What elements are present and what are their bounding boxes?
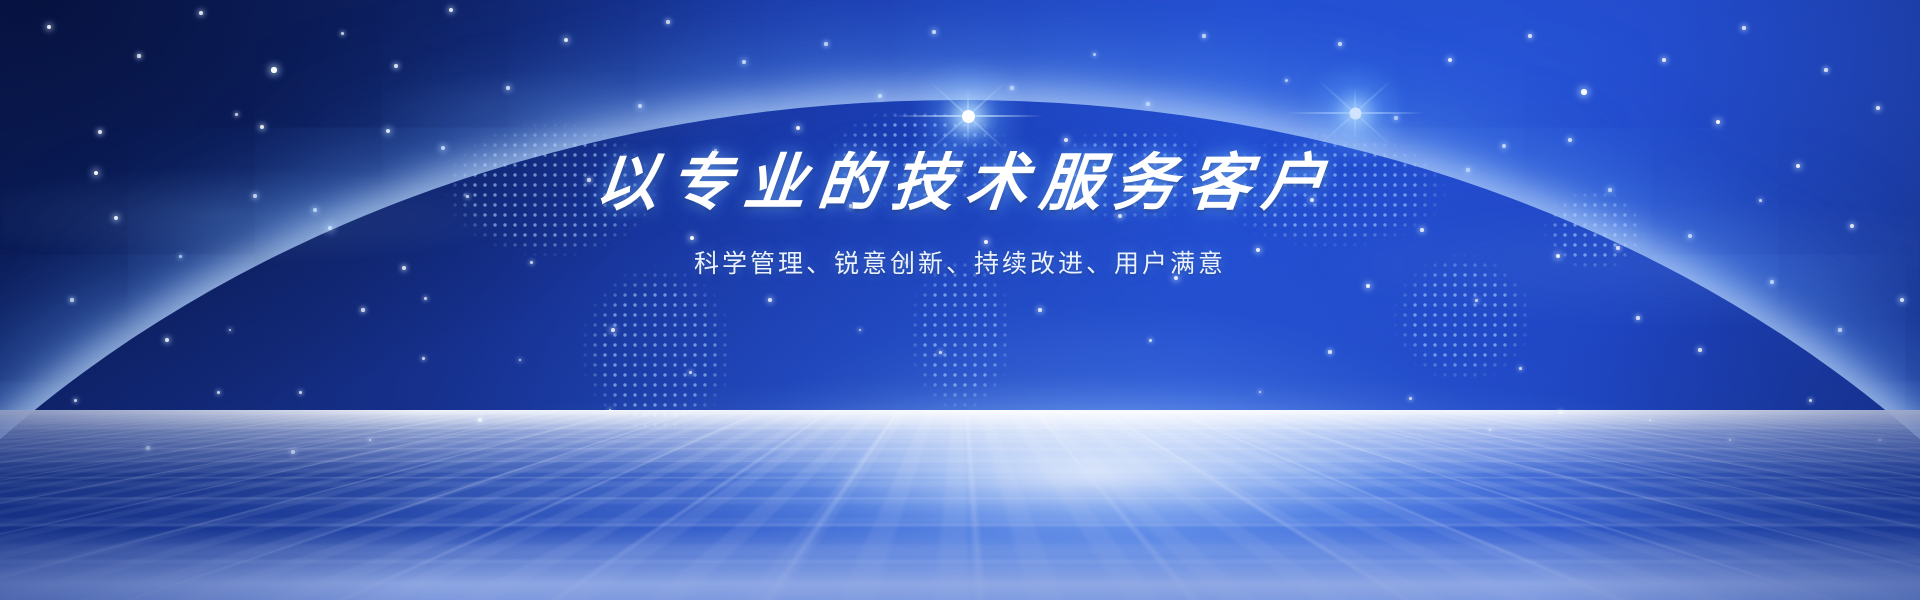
star	[564, 38, 568, 42]
star	[235, 113, 238, 116]
star	[1338, 42, 1341, 45]
star	[932, 30, 936, 34]
star	[70, 298, 73, 301]
banner-subheadline: 科学管理、锐意创新、持续改进、用户满意	[0, 244, 1920, 280]
banner-text: 以专业的技术服务客户 科学管理、锐意创新、持续改进、用户满意	[0, 150, 1920, 280]
star	[260, 125, 264, 129]
cityscape	[0, 410, 1920, 600]
star	[1742, 26, 1745, 29]
star	[742, 60, 746, 64]
hero-banner: 以专业的技术服务客户 科学管理、锐意创新、持续改进、用户满意	[0, 0, 1920, 600]
star	[1202, 34, 1205, 37]
star	[199, 11, 203, 15]
star	[394, 64, 398, 68]
star	[137, 54, 140, 57]
star	[1770, 280, 1774, 284]
star	[1448, 58, 1452, 62]
star	[1900, 298, 1904, 302]
star	[1824, 68, 1827, 71]
star	[666, 20, 669, 23]
star	[1093, 53, 1096, 56]
star	[449, 8, 453, 12]
star	[1662, 58, 1666, 62]
banner-headline: 以专业的技术服务客户	[0, 150, 1920, 218]
city-vignette	[0, 410, 1920, 600]
star	[47, 25, 51, 29]
star	[1528, 34, 1531, 37]
star	[98, 130, 102, 134]
star	[1716, 120, 1721, 125]
star	[341, 32, 344, 35]
star	[824, 42, 827, 45]
star	[1876, 106, 1879, 109]
star	[271, 67, 276, 72]
